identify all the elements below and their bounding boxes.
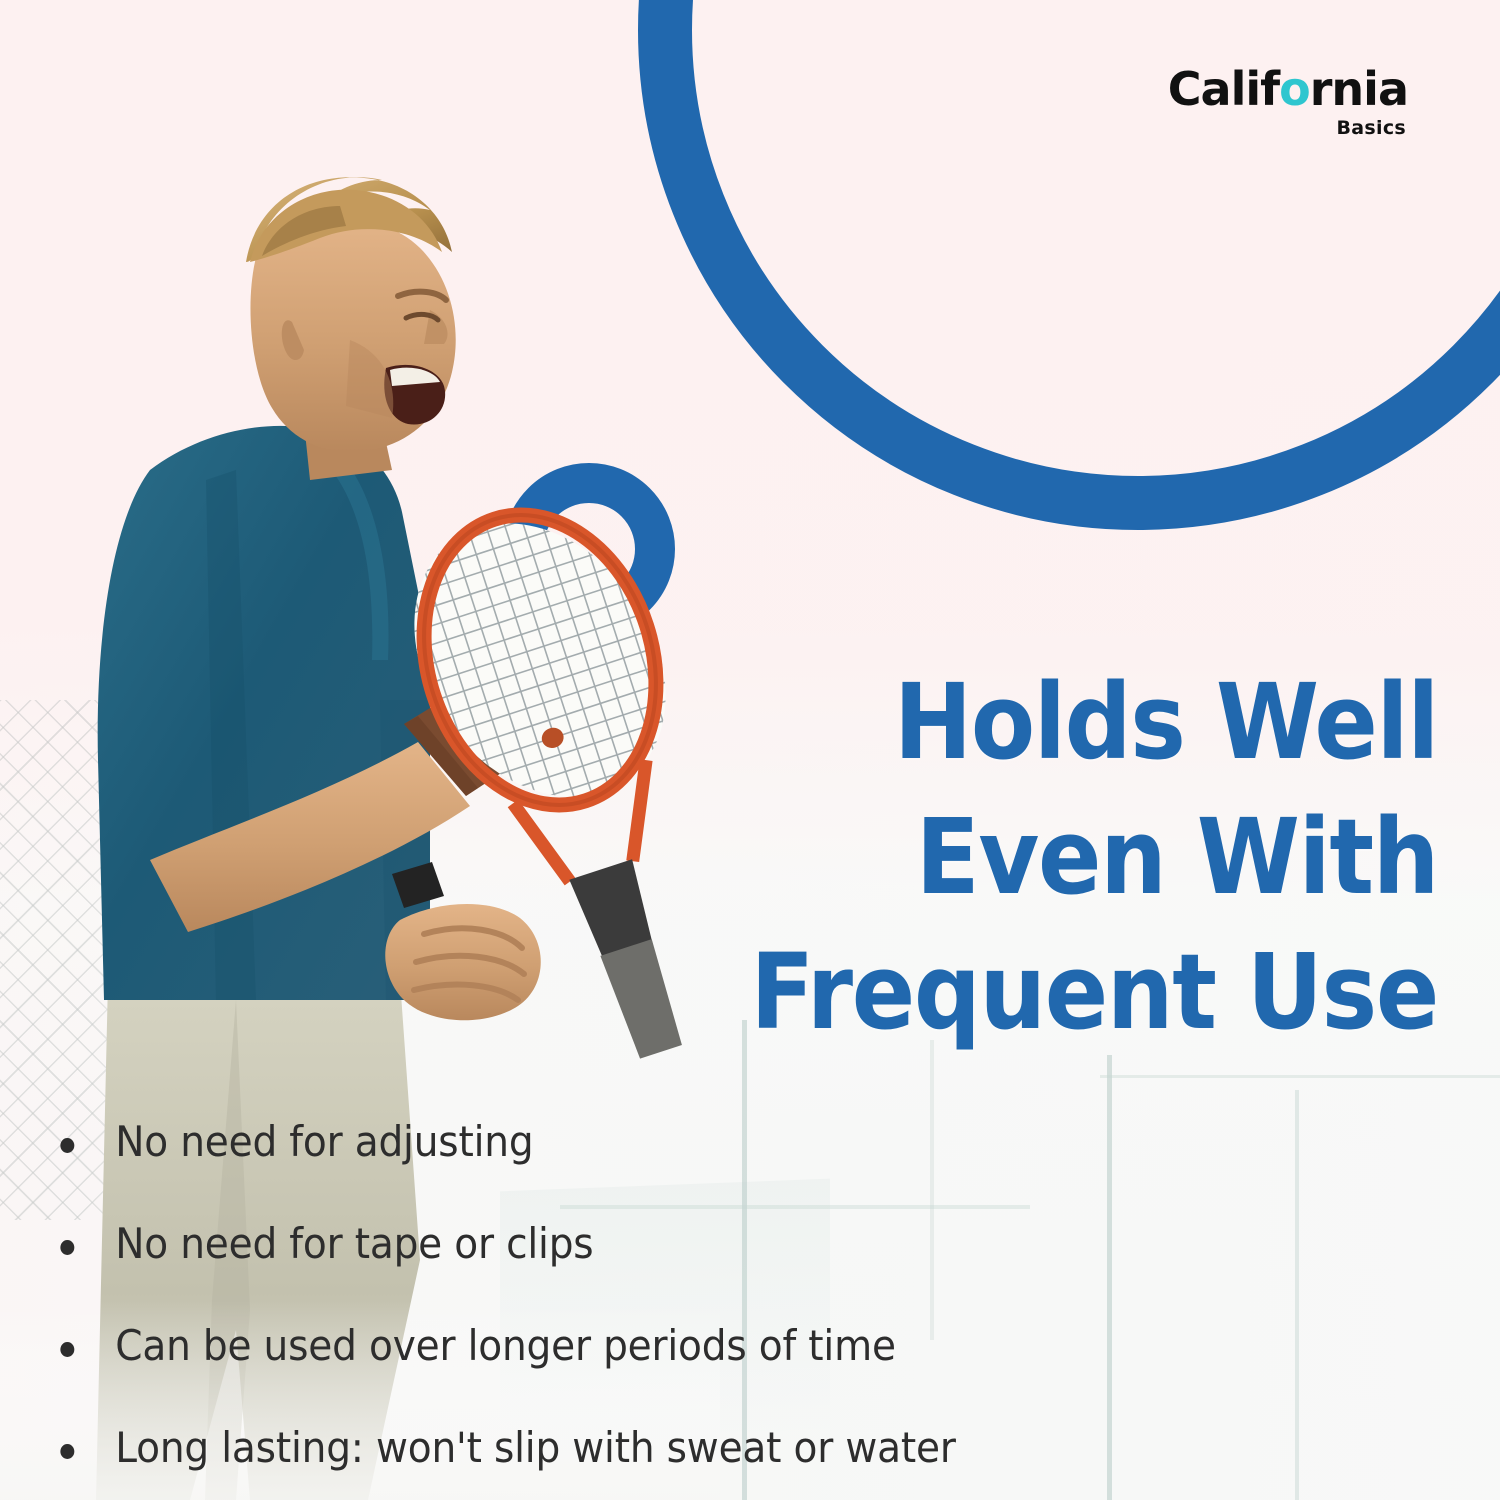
brand-name-accent-letter: o <box>1279 62 1310 116</box>
fence-rail <box>1100 1075 1500 1078</box>
headline-line-2: Even With <box>718 790 1438 925</box>
brand-logo: California Basics <box>1168 66 1408 138</box>
list-item-label: Long lasting: won't slip with sweat or w… <box>115 1423 955 1472</box>
list-item: No need for tape or clips <box>52 1222 1261 1266</box>
feature-bullet-list: No need for adjusting No need for tape o… <box>52 1120 1352 1470</box>
list-item: Can be used over longer periods of time <box>52 1324 1261 1368</box>
marketing-banner: California Basics Holds Well Even With F… <box>0 0 1500 1500</box>
list-item-label: No need for tape or clips <box>115 1219 593 1268</box>
brand-name-part2: rnia <box>1310 62 1408 116</box>
headline-line-1: Holds Well <box>718 655 1438 790</box>
bullet-dot-icon <box>60 1240 74 1255</box>
brand-subtitle: Basics <box>1168 119 1406 138</box>
bullet-dot-icon <box>60 1138 74 1153</box>
bullet-dot-icon <box>60 1444 74 1459</box>
page-title: Holds Well Even With Frequent Use <box>718 655 1438 1061</box>
list-item: No need for adjusting <box>52 1120 1261 1164</box>
brand-name: California <box>1168 66 1408 112</box>
brand-name-part1: Calif <box>1168 62 1279 116</box>
bullet-dot-icon <box>60 1342 74 1357</box>
list-item-label: Can be used over longer periods of time <box>115 1321 896 1370</box>
headline-line-3: Frequent Use <box>718 925 1438 1060</box>
list-item: Long lasting: won't slip with sweat or w… <box>52 1426 1261 1470</box>
list-item-label: No need for adjusting <box>115 1117 533 1166</box>
